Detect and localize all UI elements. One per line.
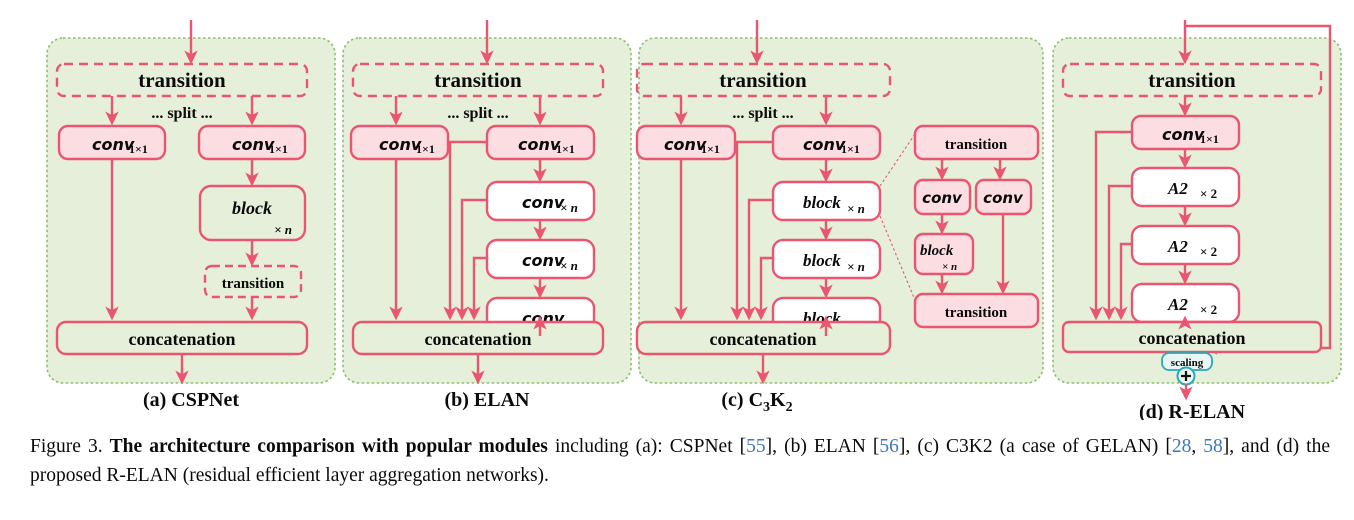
- panel-d-conv-1x1-sub: 1×1: [1200, 132, 1219, 146]
- panel-c-block-1-label: block: [803, 193, 841, 212]
- panel-elan: transition ... split ... conv 1×1 conv 1…: [343, 20, 631, 411]
- panel-d-a2-3-sub: × 2: [1200, 302, 1217, 317]
- panel-d-a2-1-sub: × 2: [1200, 186, 1217, 201]
- caption-text-3: ], (c) C3K2 (a case of GELAN) [: [899, 436, 1172, 457]
- citation-56[interactable]: 56: [879, 436, 899, 457]
- panel-c-inset-block-label: block: [920, 243, 954, 259]
- caption-text-2: ], (b) ELAN [: [766, 436, 880, 457]
- panel-c-split-label: ... split ...: [732, 105, 793, 122]
- panel-c-inset-transition-bottom-label: transition: [945, 305, 1008, 321]
- panel-c3k2: transition ... split ... conv 1×1 conv 1…: [637, 20, 1043, 415]
- panel-b-conv-n-1-label: conv: [522, 193, 565, 212]
- panel-b-conv-right-label: conv: [518, 135, 561, 154]
- panel-c-inset-block-sub: × n: [942, 261, 957, 273]
- panel-c-block-2-sub: × n: [847, 259, 865, 274]
- panel-a-transition-bottom-label: transition: [222, 276, 285, 292]
- panel-c-transition-top-label: transition: [719, 68, 807, 92]
- citation-28[interactable]: 28: [1172, 436, 1192, 457]
- figure-3: transition ... split ... conv 1×1 conv 1…: [0, 0, 1354, 520]
- panel-a-conv-left-sub: 1×1: [129, 142, 148, 156]
- panel-a-block-sub: × n: [274, 222, 292, 237]
- panel-c-conv-right-label: conv: [803, 135, 846, 154]
- caption-bold-part: The architecture comparison with popular…: [110, 436, 548, 457]
- panel-d-caption: (d) R-ELAN: [1139, 401, 1246, 420]
- caption-comma: ,: [1191, 436, 1203, 457]
- panel-d-a2-3-label: A2: [1167, 295, 1188, 314]
- citation-55[interactable]: 55: [746, 436, 766, 457]
- panel-c-inset-conv-left-label: conv: [922, 189, 963, 207]
- panel-d-a2-2-label: A2: [1167, 237, 1188, 256]
- panel-b-conv-n-1-sub: × n: [560, 200, 578, 215]
- panel-d-conv-1x1-label: conv: [1162, 125, 1205, 144]
- panel-b-transition-top-label: transition: [434, 68, 522, 92]
- panel-b-concatenation-label: concatenation: [425, 329, 532, 349]
- figure-caption: Figure 3. The architecture comparison wi…: [30, 432, 1330, 490]
- panel-a-conv-right-sub: 1×1: [269, 142, 288, 156]
- panel-b-conv-left-sub: 1×1: [416, 142, 435, 156]
- panel-c-inset-transition-top-label: transition: [945, 137, 1008, 153]
- figure-number: Figure 3.: [30, 436, 103, 457]
- panel-a-split-label: ... split ...: [151, 105, 212, 122]
- panel-b-split-label: ... split ...: [447, 105, 508, 122]
- panel-c-conv-right-sub: 1×1: [841, 142, 860, 156]
- panel-c-block-1-sub: × n: [847, 201, 865, 216]
- panel-b-conv-n-2-sub: × n: [560, 258, 578, 273]
- panel-a-block-label: block: [232, 198, 272, 218]
- panel-d-a2-1-label: A2: [1167, 179, 1188, 198]
- panel-a-transition-top-label: transition: [138, 68, 226, 92]
- panel-cspnet: transition ... split ... conv 1×1 conv 1…: [47, 20, 335, 411]
- panel-c-caption: (c) C3K2: [721, 389, 792, 415]
- citation-58[interactable]: 58: [1203, 436, 1223, 457]
- panel-d-concatenation-label: concatenation: [1139, 328, 1246, 348]
- panel-d-add-node[interactable]: [1178, 368, 1195, 385]
- panel-c-inset-conv-right-label: conv: [983, 189, 1024, 207]
- panel-b-caption: (b) ELAN: [444, 389, 530, 411]
- panel-c-block-2-label: block: [803, 251, 841, 270]
- panel-d-a2-2-sub: × 2: [1200, 244, 1217, 259]
- caption-text-1: including (a): CSPNet [: [548, 436, 746, 457]
- panel-a-caption: (a) CSPNet: [143, 389, 239, 411]
- panel-d-transition-top-label: transition: [1148, 68, 1236, 92]
- architecture-diagram: transition ... split ... conv 1×1 conv 1…: [0, 0, 1354, 420]
- panel-b-conv-n-2-label: conv: [522, 251, 565, 270]
- panel-c-conv-left-sub: 1×1: [701, 142, 720, 156]
- panel-b-conv-right-sub: 1×1: [556, 142, 575, 156]
- panel-relan: transition conv 1×1 A2 × 2 A2 × 2 A2 × 2…: [1053, 20, 1341, 420]
- panel-c-concatenation-label: concatenation: [710, 329, 817, 349]
- panel-a-concatenation-label: concatenation: [129, 329, 236, 349]
